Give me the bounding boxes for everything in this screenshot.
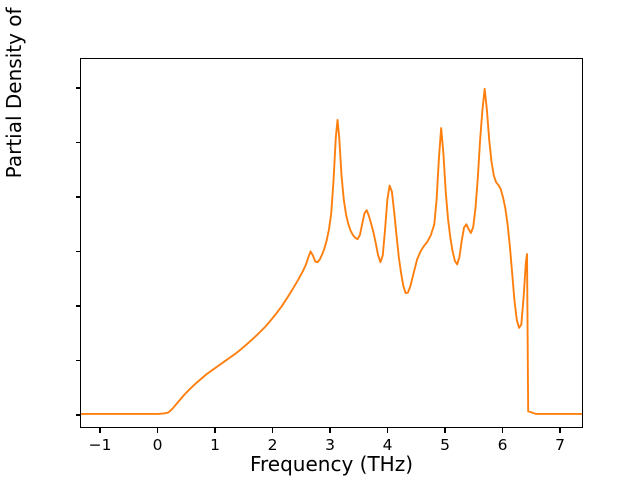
x-tick-mark	[99, 428, 100, 433]
x-tick-mark	[502, 428, 503, 433]
x-tick-mark	[214, 428, 215, 433]
x-tick-mark	[387, 428, 388, 433]
x-tick-mark	[157, 428, 158, 433]
x-tick-label: 3	[325, 436, 335, 454]
x-tick-mark	[444, 428, 445, 433]
x-tick-label: 4	[383, 436, 393, 454]
pdos-curve	[81, 59, 582, 427]
x-tick-label: −1	[89, 436, 112, 454]
x-tick-mark	[559, 428, 560, 433]
pdos-polyline	[81, 89, 582, 414]
plot-area	[80, 58, 583, 428]
x-tick-label: 0	[153, 436, 163, 454]
figure-canvas: Partial Density of States Frequency (THz…	[0, 0, 640, 480]
x-tick-mark	[272, 428, 273, 433]
x-tick-label: 6	[498, 436, 508, 454]
x-tick-label: 5	[440, 436, 450, 454]
x-tick-mark	[329, 428, 330, 433]
x-axis-label: Frequency (THz)	[80, 452, 583, 476]
x-tick-label: 7	[555, 436, 565, 454]
x-tick-label: 2	[268, 436, 278, 454]
y-axis-label: Partial Density of States	[2, 0, 26, 243]
x-tick-label: 1	[210, 436, 220, 454]
